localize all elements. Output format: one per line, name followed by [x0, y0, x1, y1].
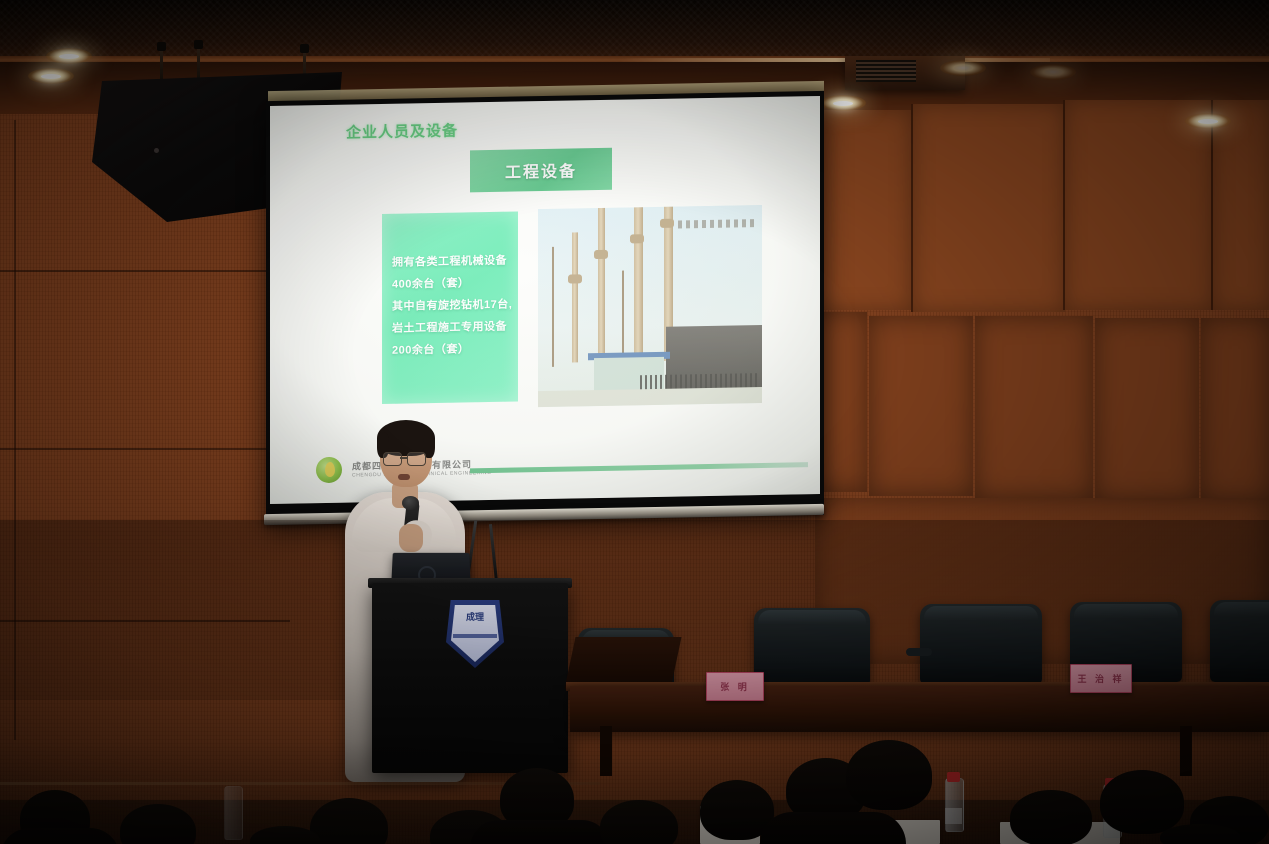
presenter-hand	[399, 524, 423, 552]
chair-armrest	[906, 648, 932, 656]
eyeglasses-lens-right	[407, 452, 426, 466]
name-placard-text: 王 治 祥	[1077, 672, 1124, 685]
head-table	[570, 686, 1269, 732]
rig-mast	[552, 247, 554, 367]
wall-panel	[1095, 318, 1199, 500]
rig-head	[660, 219, 674, 228]
audience-shoulders	[760, 812, 906, 844]
chair-highlight	[1074, 604, 1178, 628]
chair-highlight	[1214, 602, 1269, 626]
slide-header-title: 企业人员及设备	[346, 120, 458, 143]
wall-panel	[1063, 100, 1213, 310]
crest-divider	[453, 634, 497, 638]
photo-ground	[538, 387, 762, 407]
drilling-rig	[634, 205, 643, 362]
slide-body-line: 400余台（套）	[392, 272, 512, 296]
wall-panel	[911, 104, 1065, 312]
air-vent-grill	[856, 60, 916, 82]
slide-footer-bar	[470, 462, 808, 473]
bottle-label	[945, 808, 962, 824]
eyeglasses-lens-left	[383, 452, 402, 466]
wall-panel	[869, 316, 973, 496]
downlight-core	[833, 101, 853, 106]
presentation-slide: 企业人员及设备 工程设备 拥有各类工程机械设备 400余台（套） 其中自有旋挖钻…	[270, 96, 820, 504]
slide-body-line: 岩土工程施工专用设备	[392, 316, 512, 340]
rig-head	[630, 234, 644, 243]
wall-panel	[815, 110, 911, 310]
name-placard: 王 治 祥	[1070, 664, 1132, 693]
slide-body-line: 其中自有旋挖钻机17台,	[392, 294, 512, 318]
audience-head	[1010, 790, 1092, 844]
rig-head	[568, 274, 582, 283]
crest-label: 成理	[455, 612, 495, 622]
microphone-head	[402, 496, 419, 510]
rig-head	[594, 250, 608, 259]
drilling-rig	[598, 205, 605, 362]
wall-panel	[1201, 318, 1269, 500]
wall-seam	[0, 270, 300, 272]
audience-head	[1100, 770, 1184, 834]
wall-panel	[975, 316, 1093, 498]
wall-panel	[1211, 100, 1269, 310]
audience-head	[846, 740, 932, 810]
eyeglasses-bridge	[400, 457, 407, 459]
speaker-hanger-cap	[300, 44, 309, 53]
projection-screen: 企业人员及设备 工程设备 拥有各类工程机械设备 400余台（套） 其中自有旋挖钻…	[266, 91, 824, 525]
chair-highlight	[758, 610, 866, 634]
ceiling-downlight	[940, 60, 986, 76]
slide-text-box: 拥有各类工程机械设备 400余台（套） 其中自有旋挖钻机17台, 岩土工程施工专…	[382, 211, 518, 403]
ceiling-downlight	[1030, 64, 1076, 80]
company-logo-leaf-icon	[325, 462, 335, 477]
audience-shoulders	[0, 828, 120, 844]
loudspeaker-screw	[154, 148, 159, 153]
conference-hall-scene: 企业人员及设备 工程设备 拥有各类工程机械设备 400余台（套） 其中自有旋挖钻…	[0, 0, 1269, 844]
name-placard-text: 张 明	[720, 680, 750, 693]
speaker-hanger-cap	[157, 42, 166, 51]
ceiling-texture	[0, 0, 1269, 62]
chair-highlight	[924, 606, 1038, 630]
name-placard: 张 明	[706, 672, 764, 701]
audience-head	[1160, 824, 1240, 844]
slide-banner-label: 工程设备	[505, 157, 577, 182]
slide-body-line: 200余台（套）	[392, 338, 512, 362]
drilling-rig	[572, 233, 578, 363]
slide-banner: 工程设备	[470, 148, 612, 193]
building-signage	[678, 219, 754, 228]
presenter-mouth	[398, 474, 410, 480]
water-bottle	[224, 786, 243, 840]
audience-shoulders	[470, 820, 610, 844]
slide-body-line: 拥有各类工程机械设备	[392, 250, 512, 274]
downlight-core	[1198, 119, 1218, 124]
downlight-core	[41, 74, 61, 79]
bottle-cap	[947, 772, 960, 782]
downlight-core	[59, 54, 79, 59]
wall-seam	[0, 448, 300, 450]
slide-photo-drilling-rigs	[538, 205, 762, 407]
slide-body-text: 拥有各类工程机械设备 400余台（套） 其中自有旋挖钻机17台, 岩土工程施工专…	[392, 250, 512, 362]
speaker-hanger-cap	[194, 40, 203, 49]
